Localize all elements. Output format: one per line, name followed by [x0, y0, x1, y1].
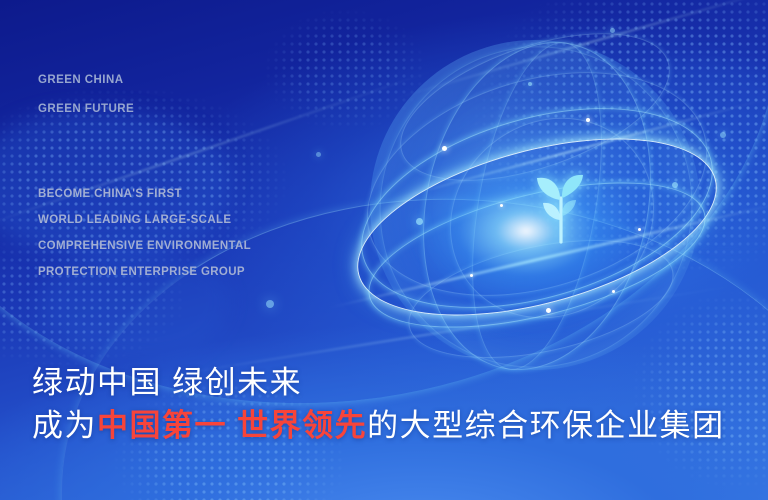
glow-particle [672, 182, 678, 188]
hero-banner: GREEN CHINA GREEN FUTURE BECOME CHINA'S … [0, 0, 768, 500]
sprout-icon [526, 164, 596, 244]
ambient-particle [266, 300, 274, 308]
glow-particle [638, 228, 641, 231]
ambient-particle [610, 28, 615, 33]
glow-particle [546, 308, 551, 313]
glow-particle [416, 218, 423, 225]
glow-particle [500, 204, 503, 207]
headline-highlight: 中国第一 世界领先 [97, 408, 367, 443]
slogan-line-1: GREEN CHINA [38, 74, 123, 86]
claim-line-4: PROTECTION ENTERPRISE GROUP [38, 266, 245, 278]
headline-suffix: 的大型综合环保企业集团 [367, 408, 725, 443]
glow-particle [612, 290, 615, 293]
headline-block: 绿动中国 绿创未来 成为中国第一 世界领先的大型综合环保企业集团 [32, 362, 752, 448]
globe-graphic [350, 22, 750, 382]
ambient-particle [720, 132, 726, 138]
glow-particle [586, 118, 590, 122]
headline-line-1: 绿动中国 绿创未来 [32, 362, 752, 404]
claim-line-3: COMPREHENSIVE ENVIRONMENTAL [38, 240, 251, 252]
glow-particle [470, 274, 473, 277]
claim-line-1: BECOME CHINA'S FIRST [38, 188, 182, 200]
headline-prefix: 成为 [32, 408, 97, 443]
glow-particle [528, 82, 532, 86]
claim-line-2: WORLD LEADING LARGE-SCALE [38, 214, 231, 226]
ambient-particle [316, 152, 321, 157]
headline-line-2: 成为中国第一 世界领先的大型综合环保企业集团 [32, 404, 752, 448]
glow-particle [442, 146, 447, 151]
slogan-line-2: GREEN FUTURE [38, 103, 134, 115]
